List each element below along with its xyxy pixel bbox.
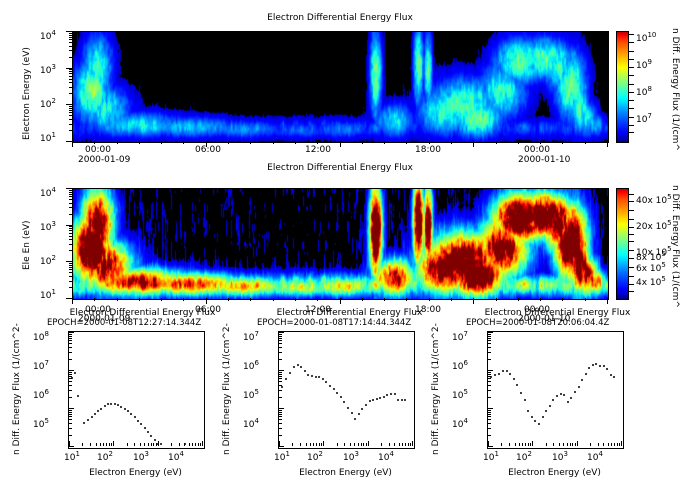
axis-tick xyxy=(66,225,72,226)
panel5-ylabel: n Diff. Energy Flux (1/(cm^2- xyxy=(431,323,441,455)
data-point xyxy=(520,392,522,394)
axis-tick xyxy=(69,119,72,120)
axis-tick xyxy=(402,443,403,446)
axis-tick xyxy=(279,381,282,382)
axis-tick xyxy=(69,203,72,204)
axis-tick xyxy=(279,446,284,447)
axis-tick xyxy=(69,385,72,386)
axis-tick xyxy=(69,207,72,208)
data-point xyxy=(304,370,306,372)
colorbar-tick xyxy=(628,201,634,202)
axis-tick xyxy=(109,443,110,446)
panel1-date-right: 2000-01-10 xyxy=(518,155,570,165)
panel5-ytick-0: 107 xyxy=(452,330,468,343)
data-point xyxy=(285,378,287,380)
axis-tick xyxy=(69,112,72,113)
axis-tick xyxy=(300,443,301,446)
colorbar-tick xyxy=(628,117,634,118)
panel1-cb-tick-0: 1010 xyxy=(636,31,656,44)
panel1-ylabel: Electron Energy (eV) xyxy=(22,47,32,140)
axis-tick xyxy=(361,443,362,446)
data-point xyxy=(592,364,594,366)
panel5-plot[interactable] xyxy=(487,331,624,449)
data-point xyxy=(120,406,122,408)
axis-tick xyxy=(607,298,608,304)
axis-tick xyxy=(532,441,533,446)
axis-tick xyxy=(384,141,385,144)
axis-tick xyxy=(100,443,101,446)
data-point xyxy=(404,399,406,401)
axis-tick xyxy=(279,378,282,379)
panel3-xlabel: Electron Energy (eV) xyxy=(68,468,203,478)
data-point xyxy=(595,363,597,365)
panel3-title: Electron Differential Energy Flux xyxy=(55,308,230,318)
axis-tick xyxy=(279,390,282,391)
data-point xyxy=(160,443,162,445)
data-point xyxy=(506,370,508,372)
panel5-xtick-3: 104 xyxy=(587,450,603,463)
axis-tick xyxy=(69,343,72,344)
axis-tick xyxy=(488,408,493,409)
panel3-ylabel: n Diff. Energy Flux (1/(cm^2- xyxy=(12,323,22,455)
axis-tick xyxy=(317,141,318,144)
axis-tick xyxy=(69,69,72,70)
axis-tick xyxy=(200,443,201,446)
data-point xyxy=(379,397,381,399)
axis-tick xyxy=(69,228,72,229)
data-point xyxy=(107,403,109,405)
data-point xyxy=(150,435,152,437)
axis-tick xyxy=(488,414,491,415)
panel1-xtick-3: 18:00 xyxy=(415,145,441,155)
axis-tick xyxy=(488,334,491,335)
axis-tick xyxy=(598,443,599,446)
axis-tick xyxy=(179,443,180,446)
axis-tick xyxy=(399,443,400,446)
panel4-title: Electron Differential Energy Flux xyxy=(262,308,437,318)
data-point xyxy=(114,403,116,405)
data-point xyxy=(610,374,612,376)
data-point xyxy=(556,395,558,397)
data-point xyxy=(498,373,500,375)
panel4-xlabel: Electron Energy (eV) xyxy=(278,468,413,478)
axis-tick xyxy=(69,412,72,413)
data-point xyxy=(144,427,146,429)
axis-tick xyxy=(69,381,72,382)
axis-tick xyxy=(590,443,591,446)
data-point xyxy=(538,423,540,425)
axis-tick xyxy=(69,352,72,353)
axis-tick xyxy=(183,141,184,144)
data-point xyxy=(130,413,132,415)
axis-tick xyxy=(488,376,491,377)
panel4-ytick-3: 104 xyxy=(243,417,259,430)
axis-tick xyxy=(69,372,72,373)
axis-tick xyxy=(340,141,341,147)
axis-tick xyxy=(488,332,493,333)
axis-tick xyxy=(69,446,74,447)
data-point xyxy=(307,374,309,376)
panel5-ytick-1: 106 xyxy=(452,359,468,372)
axis-tick xyxy=(488,423,491,424)
axis-tick xyxy=(362,298,363,301)
axis-tick xyxy=(206,298,207,304)
panel2-ytick-2: 102 xyxy=(40,254,56,267)
axis-tick xyxy=(603,443,604,446)
data-point xyxy=(394,393,396,395)
axis-tick xyxy=(519,443,520,446)
panel1-colorbar xyxy=(616,31,629,143)
axis-tick xyxy=(405,443,406,446)
panel3-ytick-0: 108 xyxy=(33,330,49,343)
data-point xyxy=(606,368,608,370)
panel1-cb-label: n Diff. Energy Flux (1/(cm^ xyxy=(670,28,680,151)
data-point xyxy=(343,401,345,403)
data-point xyxy=(560,393,562,395)
axis-tick xyxy=(161,141,162,144)
axis-tick xyxy=(111,443,112,446)
data-point xyxy=(581,379,583,381)
panel5-title: Electron Differential Energy Flux xyxy=(470,308,645,318)
axis-tick xyxy=(429,298,430,301)
data-point xyxy=(354,418,356,420)
axis-tick xyxy=(501,443,502,446)
data-point xyxy=(83,422,85,424)
axis-tick xyxy=(279,397,282,398)
axis-tick xyxy=(313,443,314,446)
data-point xyxy=(494,374,496,376)
axis-tick xyxy=(69,334,72,335)
axis-tick xyxy=(198,443,199,446)
colorbar-tick xyxy=(628,267,634,268)
colorbar-tick xyxy=(628,194,634,195)
axis-tick xyxy=(69,287,72,288)
panel1-date-left: 2000-01-09 xyxy=(78,155,130,165)
axis-tick xyxy=(69,42,72,43)
colorbar-tick xyxy=(628,67,634,68)
axis-tick xyxy=(563,443,564,446)
axis-tick xyxy=(69,267,72,268)
data-point xyxy=(401,399,403,401)
axis-tick xyxy=(72,298,73,304)
data-point xyxy=(542,416,544,418)
panel3-plot[interactable] xyxy=(68,331,205,449)
axis-tick xyxy=(250,141,251,144)
axis-tick xyxy=(570,443,571,446)
axis-tick xyxy=(69,50,72,51)
axis-tick xyxy=(192,443,193,446)
axis-tick xyxy=(69,265,72,266)
panel2-cb-tick-5: 4x 105 xyxy=(636,275,666,288)
axis-tick xyxy=(156,443,157,446)
colorbar-tick xyxy=(628,100,634,101)
axis-tick xyxy=(340,298,341,304)
colorbar-tick xyxy=(628,250,634,251)
axis-tick xyxy=(189,443,190,446)
panel1-cb-tick-3: 107 xyxy=(636,112,652,125)
data-point xyxy=(603,365,605,367)
axis-tick xyxy=(488,419,491,420)
axis-tick xyxy=(473,298,474,304)
axis-tick xyxy=(279,414,282,415)
data-point xyxy=(563,394,565,396)
axis-tick xyxy=(496,141,497,144)
axis-tick xyxy=(66,104,72,105)
colorbar-tick xyxy=(628,210,634,211)
axis-tick xyxy=(279,374,282,375)
data-point xyxy=(570,397,572,399)
axis-tick xyxy=(279,419,282,420)
axis-tick xyxy=(69,340,72,341)
data-point xyxy=(534,420,536,422)
axis-tick xyxy=(528,443,529,446)
data-point xyxy=(516,384,518,386)
axis-tick xyxy=(69,33,72,34)
axis-tick xyxy=(389,443,390,446)
data-point xyxy=(599,365,601,367)
axis-tick xyxy=(134,443,135,446)
axis-tick xyxy=(69,46,72,47)
axis-tick xyxy=(69,374,72,375)
data-point xyxy=(94,413,96,415)
axis-tick xyxy=(279,410,282,411)
colorbar-tick xyxy=(628,291,634,292)
panel2-ylabel: Ele En (eV) xyxy=(22,220,32,270)
panel3-ytick-1: 107 xyxy=(33,359,49,372)
axis-tick xyxy=(559,443,560,446)
axis-tick xyxy=(158,441,159,446)
axis-tick xyxy=(546,443,547,446)
axis-tick xyxy=(488,385,491,386)
axis-tick xyxy=(139,141,140,144)
axis-tick xyxy=(368,441,369,446)
axis-tick xyxy=(518,298,519,301)
colorbar-tick xyxy=(628,276,634,277)
panel4-epoch: EPOCH=2000-01-08T17:14:44.344Z xyxy=(257,318,411,328)
axis-tick xyxy=(279,435,282,436)
axis-tick xyxy=(127,443,128,446)
axis-tick xyxy=(69,194,72,195)
data-point xyxy=(531,416,533,418)
data-point xyxy=(311,375,313,377)
axis-tick xyxy=(279,423,282,424)
axis-tick xyxy=(406,298,407,301)
axis-tick xyxy=(515,443,516,446)
axis-tick xyxy=(585,298,586,301)
data-point xyxy=(552,399,554,401)
axis-tick xyxy=(69,250,72,251)
axis-tick xyxy=(607,141,608,147)
axis-tick xyxy=(553,443,554,446)
axis-tick xyxy=(567,443,568,446)
axis-tick xyxy=(350,443,351,446)
data-point xyxy=(325,381,327,383)
axis-tick xyxy=(279,370,284,371)
axis-tick xyxy=(358,443,359,446)
axis-tick xyxy=(488,381,491,382)
axis-tick xyxy=(66,31,72,32)
axis-tick xyxy=(69,71,72,72)
colorbar-tick xyxy=(628,51,634,52)
axis-tick xyxy=(140,443,141,446)
data-point xyxy=(117,404,119,406)
axis-tick xyxy=(614,443,615,446)
axis-tick xyxy=(69,376,72,377)
panel2-spectrogram[interactable] xyxy=(72,188,609,300)
data-point xyxy=(527,410,529,412)
data-point xyxy=(578,386,580,388)
axis-tick xyxy=(69,35,72,36)
axis-tick xyxy=(69,338,72,339)
axis-tick xyxy=(103,443,104,446)
axis-tick xyxy=(69,106,72,107)
panel4-ytick-0: 107 xyxy=(243,330,259,343)
colorbar-tick xyxy=(628,75,634,76)
axis-tick xyxy=(488,370,493,371)
data-point xyxy=(574,391,576,393)
axis-tick xyxy=(69,276,72,277)
axis-tick xyxy=(69,190,72,191)
panel5-ytick-2: 105 xyxy=(452,388,468,401)
data-point xyxy=(361,408,363,410)
data-point xyxy=(97,410,99,412)
axis-tick xyxy=(279,372,282,373)
axis-tick xyxy=(279,441,280,446)
axis-tick xyxy=(577,441,578,446)
axis-tick xyxy=(394,443,395,446)
axis-tick xyxy=(69,370,74,371)
axis-tick xyxy=(273,298,274,301)
data-point xyxy=(77,395,79,397)
data-point xyxy=(588,367,590,369)
axis-tick xyxy=(522,443,523,446)
axis-tick xyxy=(273,141,274,144)
panel4-xtick-0: 101 xyxy=(274,450,290,463)
panel3-xtick-3: 104 xyxy=(168,450,184,463)
axis-tick xyxy=(106,443,107,446)
panel5-ytick-3: 104 xyxy=(452,417,468,430)
axis-tick xyxy=(90,443,91,446)
axis-tick xyxy=(488,412,491,413)
axis-tick xyxy=(488,343,491,344)
data-point xyxy=(585,373,587,375)
colorbar-tick xyxy=(628,132,634,133)
axis-tick xyxy=(488,428,491,429)
data-point xyxy=(315,376,317,378)
axis-tick xyxy=(488,338,491,339)
axis-tick xyxy=(69,79,72,80)
axis-tick xyxy=(488,390,491,391)
axis-tick xyxy=(151,443,152,446)
panel2-ytick-1: 101 xyxy=(40,288,56,301)
axis-tick xyxy=(195,443,196,446)
axis-tick xyxy=(153,443,154,446)
axis-tick xyxy=(572,443,573,446)
data-point xyxy=(300,366,302,368)
axis-tick xyxy=(617,443,618,446)
axis-tick xyxy=(279,340,282,341)
panel4-plot[interactable] xyxy=(278,331,415,449)
axis-tick xyxy=(488,347,491,348)
panel1-spectrogram[interactable] xyxy=(72,31,609,143)
colorbar-tick xyxy=(628,219,634,220)
axis-tick xyxy=(69,93,72,94)
axis-tick xyxy=(69,73,72,74)
axis-tick xyxy=(69,244,72,245)
panel1-xtick-4: 00:00 xyxy=(524,145,550,155)
data-point xyxy=(100,408,102,410)
axis-tick xyxy=(408,443,409,446)
axis-tick xyxy=(183,298,184,301)
axis-tick xyxy=(611,443,612,446)
axis-tick xyxy=(69,272,72,273)
axis-tick xyxy=(69,214,72,215)
data-point xyxy=(549,405,551,407)
data-point xyxy=(524,399,526,401)
data-point xyxy=(147,431,149,433)
axis-tick xyxy=(295,141,296,144)
axis-tick xyxy=(69,110,72,111)
panel2-cb-tick-1: 20x 105 xyxy=(636,219,672,232)
axis-tick xyxy=(488,374,491,375)
data-point xyxy=(358,413,360,415)
panel4-ytick-1: 106 xyxy=(243,359,259,372)
axis-tick xyxy=(381,443,382,446)
axis-tick xyxy=(488,416,491,417)
panel3-xtick-1: 102 xyxy=(97,450,113,463)
axis-tick xyxy=(69,196,72,197)
data-point xyxy=(502,370,504,372)
axis-tick xyxy=(279,352,282,353)
axis-tick xyxy=(488,435,491,436)
axis-tick xyxy=(113,441,114,446)
data-point xyxy=(351,412,353,414)
axis-tick xyxy=(496,298,497,301)
axis-tick xyxy=(69,115,72,116)
panel4-xtick-3: 104 xyxy=(378,450,394,463)
axis-tick xyxy=(69,423,72,424)
axis-tick xyxy=(295,298,296,301)
axis-tick xyxy=(279,428,282,429)
axis-tick xyxy=(69,397,72,398)
colorbar-tick xyxy=(628,284,634,285)
axis-tick xyxy=(96,443,97,446)
axis-tick xyxy=(69,359,72,360)
axis-tick xyxy=(69,236,72,237)
axis-tick xyxy=(66,68,72,69)
data-point xyxy=(124,408,126,410)
axis-tick xyxy=(69,108,72,109)
axis-tick xyxy=(292,443,293,446)
axis-tick xyxy=(94,141,95,144)
data-point xyxy=(104,405,106,407)
axis-tick xyxy=(279,376,282,377)
axis-tick xyxy=(279,334,282,335)
axis-tick xyxy=(69,124,72,125)
panel2-ytick-4: 104 xyxy=(40,186,56,199)
data-point xyxy=(134,416,136,418)
axis-tick xyxy=(69,332,74,333)
colorbar-tick xyxy=(628,125,634,126)
axis-tick xyxy=(451,141,452,144)
axis-tick xyxy=(619,443,620,446)
panel1-xtick-0: 00:00 xyxy=(85,145,111,155)
panel4-xtick-2: 103 xyxy=(343,450,359,463)
axis-tick xyxy=(228,141,229,144)
axis-tick xyxy=(69,435,72,436)
axis-tick xyxy=(488,340,491,341)
panel1-xtick-1: 06:00 xyxy=(195,145,221,155)
